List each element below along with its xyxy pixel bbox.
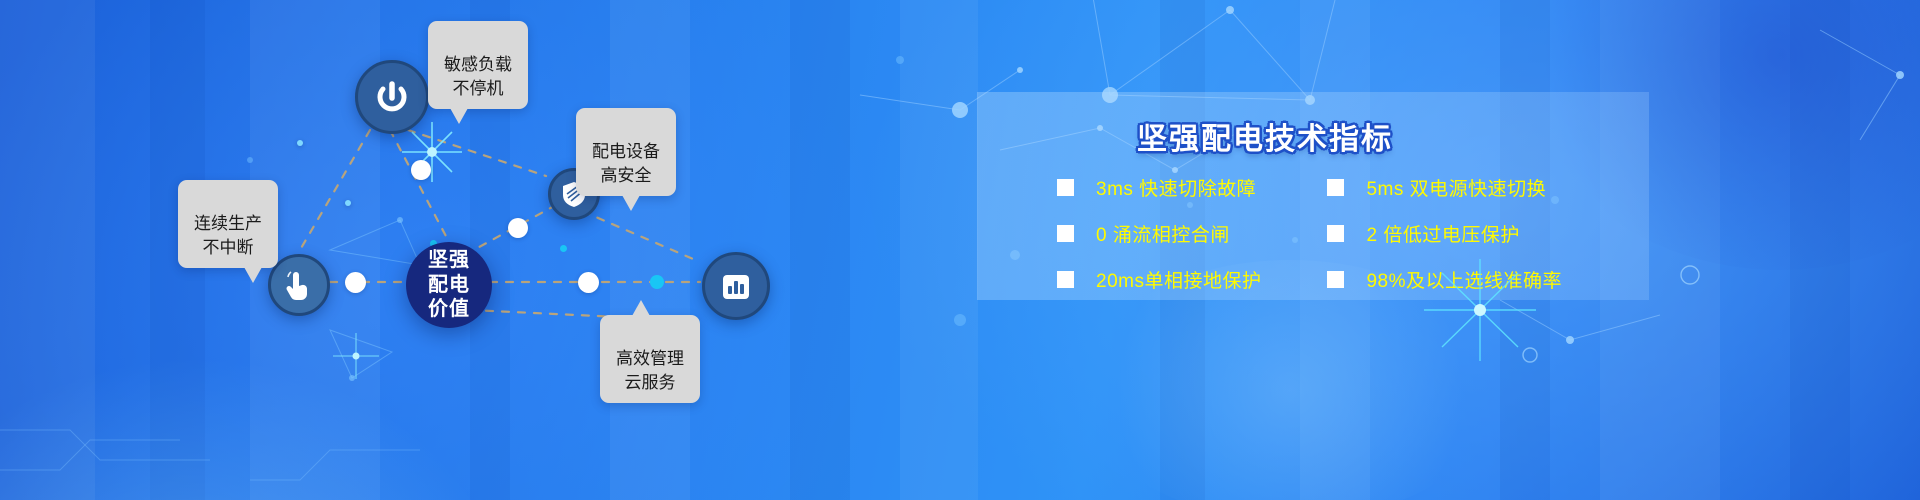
value-network-diagram: 坚强 配电 价值 敏感负载 不停机 配电设备 高安全 连续生产 不中断 高效管理… <box>0 0 860 500</box>
touch-node[interactable] <box>268 254 330 316</box>
metric-item: 20ms单相接地保护 <box>1057 266 1261 293</box>
bullet-square-icon <box>1057 225 1074 242</box>
bullet-square-icon <box>1057 271 1074 288</box>
panel-title: 坚强配电技术指标 <box>1137 114 1393 158</box>
tooltip-text: 高效管理 云服务 <box>616 349 684 391</box>
bullet-square-icon <box>1327 179 1344 196</box>
chart-node[interactable] <box>702 252 770 320</box>
metric-item: 98%及以上选线准确率 <box>1327 266 1562 293</box>
banner-stage: 坚强 配电 价值 敏感负载 不停机 配电设备 高安全 连续生产 不中断 高效管理… <box>0 0 1920 500</box>
metric-item: 0 涌流相控合闸 <box>1057 220 1261 247</box>
tooltip-text: 敏感负载 不停机 <box>444 55 512 97</box>
hand-touch-icon <box>284 269 314 301</box>
center-node-label: 坚强 配电 价值 <box>428 248 470 321</box>
metric-item: 5ms 双电源快速切换 <box>1327 174 1562 201</box>
tooltip-distribution-safety: 配电设备 高安全 <box>576 108 676 196</box>
metric-label: 5ms 双电源快速切换 <box>1366 174 1546 201</box>
metric-item: 2 倍低过电压保护 <box>1327 220 1562 247</box>
junction-dot <box>345 272 366 293</box>
bar-chart-icon <box>720 270 752 302</box>
metric-label: 98%及以上选线准确率 <box>1366 266 1562 293</box>
metrics-column-right: 5ms 双电源快速切换 2 倍低过电压保护 98%及以上选线准确率 <box>1327 174 1562 293</box>
bullet-square-icon <box>1327 271 1344 288</box>
junction-dot <box>411 160 431 180</box>
dot-decor <box>560 245 567 252</box>
tooltip-text: 连续生产 不中断 <box>194 214 262 256</box>
junction-dot <box>578 272 599 293</box>
metrics-column-left: 3ms 快速切除故障 0 涌流相控合闸 20ms单相接地保护 <box>1057 174 1261 293</box>
tooltip-text: 配电设备 高安全 <box>592 142 660 184</box>
metric-label: 3ms 快速切除故障 <box>1096 174 1256 201</box>
metric-label: 0 涌流相控合闸 <box>1096 220 1230 247</box>
metric-label: 20ms单相接地保护 <box>1096 266 1261 293</box>
center-node[interactable]: 坚强 配电 价值 <box>406 242 492 328</box>
junction-dot-accent <box>650 275 664 289</box>
power-icon <box>372 77 412 117</box>
tooltip-sensitive-load: 敏感负载 不停机 <box>428 21 528 109</box>
metrics-columns: 3ms 快速切除故障 0 涌流相控合闸 20ms单相接地保护 5ms 双电源快速… <box>1057 174 1657 293</box>
tooltip-cloud-management: 高效管理 云服务 <box>600 315 700 403</box>
bullet-square-icon <box>1057 179 1074 196</box>
tech-metrics-panel: 坚强配电技术指标 3ms 快速切除故障 0 涌流相控合闸 20ms单相接地保护 <box>977 92 1649 300</box>
junction-dot <box>508 218 528 238</box>
bullet-square-icon <box>1327 225 1344 242</box>
metric-item: 3ms 快速切除故障 <box>1057 174 1261 201</box>
power-node[interactable] <box>355 60 429 134</box>
dot-decor <box>345 200 351 206</box>
dot-decor <box>297 140 303 146</box>
metric-label: 2 倍低过电压保护 <box>1366 220 1519 247</box>
tooltip-continuous-production: 连续生产 不中断 <box>178 180 278 268</box>
